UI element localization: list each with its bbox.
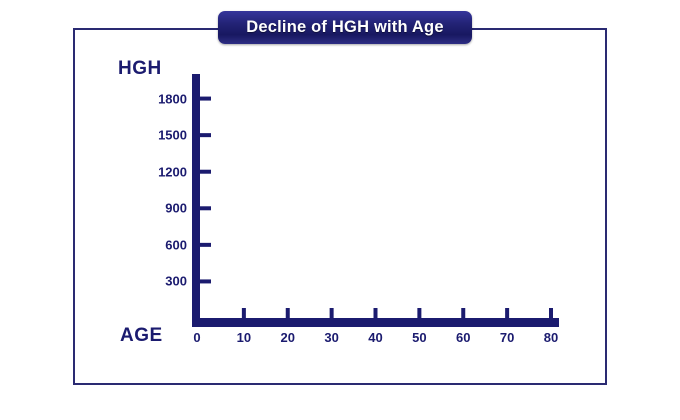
y-tick-label: 1800 — [129, 91, 187, 106]
x-tick-label: 20 — [281, 330, 295, 345]
x-tick-label: 50 — [412, 330, 426, 345]
chart-title: Decline of HGH with Age — [246, 18, 443, 37]
y-tick-label: 1200 — [129, 164, 187, 179]
chart-canvas: Decline of HGH with Age HGH AGE 30060090… — [0, 0, 680, 420]
x-tick-label: 70 — [500, 330, 514, 345]
y-tick-label: 600 — [129, 237, 187, 252]
x-tick-label: 80 — [544, 330, 558, 345]
y-tick-label: 1500 — [129, 128, 187, 143]
x-tick-label: 60 — [456, 330, 470, 345]
x-tick-label: 30 — [324, 330, 338, 345]
x-tick-label: 0 — [193, 330, 200, 345]
chart-title-banner: Decline of HGH with Age — [218, 11, 472, 44]
x-tick-label: 40 — [368, 330, 382, 345]
x-tick-label: 10 — [237, 330, 251, 345]
y-axis-tick-labels: 300600900120015001800 — [125, 0, 187, 420]
y-tick-label: 300 — [129, 274, 187, 289]
y-tick-label: 900 — [129, 201, 187, 216]
